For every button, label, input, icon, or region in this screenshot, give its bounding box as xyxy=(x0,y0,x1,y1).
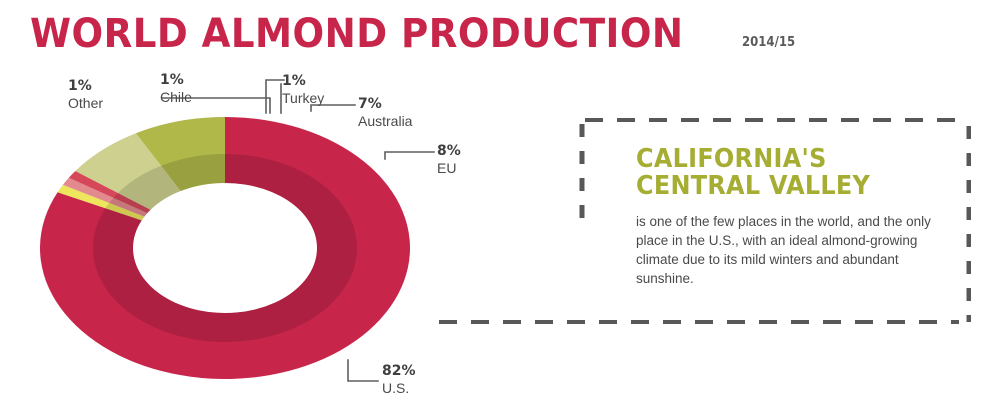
donut-chart-svg xyxy=(32,108,424,388)
slice-region-other: Other xyxy=(68,95,103,112)
page-title: WORLD ALMOND PRODUCTION xyxy=(30,14,684,54)
slice-region-chile: Chile xyxy=(160,89,192,106)
callout-heading: CALIFORNIA'S CENTRAL VALLEY xyxy=(636,146,930,200)
infographic-canvas: WORLD ALMOND PRODUCTION 2014/15 1% Other xyxy=(0,0,1000,413)
donut-inner-shading xyxy=(93,154,357,342)
slice-pct-us: 82% xyxy=(382,363,416,380)
donut-chart xyxy=(32,108,424,388)
slice-region-us: U.S. xyxy=(382,380,416,397)
california-callout-box: CALIFORNIA'S CENTRAL VALLEY is one of th… xyxy=(437,118,971,324)
slice-region-australia: Australia xyxy=(358,113,412,130)
callout-heading-line2: CENTRAL VALLEY xyxy=(636,173,930,200)
slice-pct-chile: 1% xyxy=(160,72,192,89)
slice-label-other: 1% Other xyxy=(68,78,103,112)
slice-label-australia: 7% Australia xyxy=(358,96,412,130)
title-block: WORLD ALMOND PRODUCTION 2014/15 xyxy=(30,14,801,54)
slice-region-turkey: Turkey xyxy=(282,90,324,107)
slice-label-us: 82% U.S. xyxy=(382,363,416,397)
callout-body-text: is one of the few places in the world, a… xyxy=(636,212,936,288)
title-year: 2014/15 xyxy=(742,36,795,49)
callout-heading-line1: CALIFORNIA'S xyxy=(636,144,827,174)
slice-pct-other: 1% xyxy=(68,78,103,95)
slice-pct-australia: 7% xyxy=(358,96,412,113)
slice-label-chile: 1% Chile xyxy=(160,72,192,106)
callout-content: CALIFORNIA'S CENTRAL VALLEY is one of th… xyxy=(636,146,956,288)
slice-label-turkey: 1% Turkey xyxy=(282,73,324,107)
slice-pct-turkey: 1% xyxy=(282,73,324,90)
